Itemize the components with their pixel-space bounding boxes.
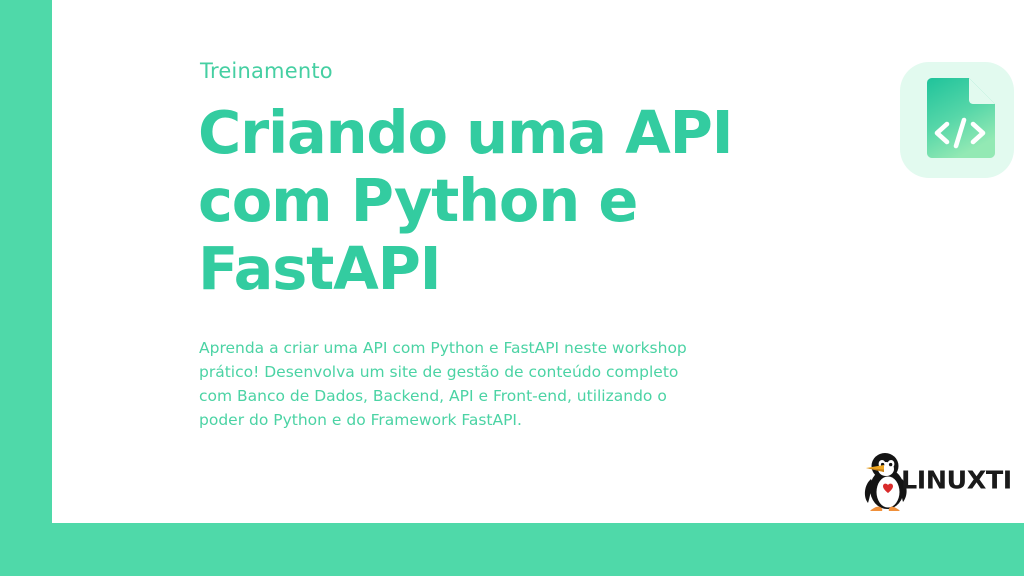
headline-line-1: Criando uma API: [198, 99, 758, 167]
linuxtips-logo: LINUXTIPS: [858, 449, 1013, 511]
slide-canvas: Treinamento Criando uma API com Python e…: [0, 0, 1024, 576]
page-title: Criando uma API com Python e FastAPI: [198, 99, 758, 303]
headline-line-2: com Python e: [198, 167, 758, 235]
code-file-badge: [900, 62, 1014, 178]
linuxtips-wordmark: LINUXTIPS: [901, 465, 1013, 495]
content-panel: Treinamento Criando uma API com Python e…: [52, 0, 1024, 523]
linuxtips-wordmark-text: LINUXTIPS: [901, 466, 1013, 495]
headline-line-3: FastAPI: [198, 235, 758, 303]
description-text: Aprenda a criar uma API com Python e Fas…: [199, 336, 709, 432]
folded-corner: [969, 78, 995, 104]
code-file-icon: [919, 78, 995, 162]
document-shape: [927, 78, 995, 158]
eyebrow-label: Treinamento: [200, 59, 333, 83]
